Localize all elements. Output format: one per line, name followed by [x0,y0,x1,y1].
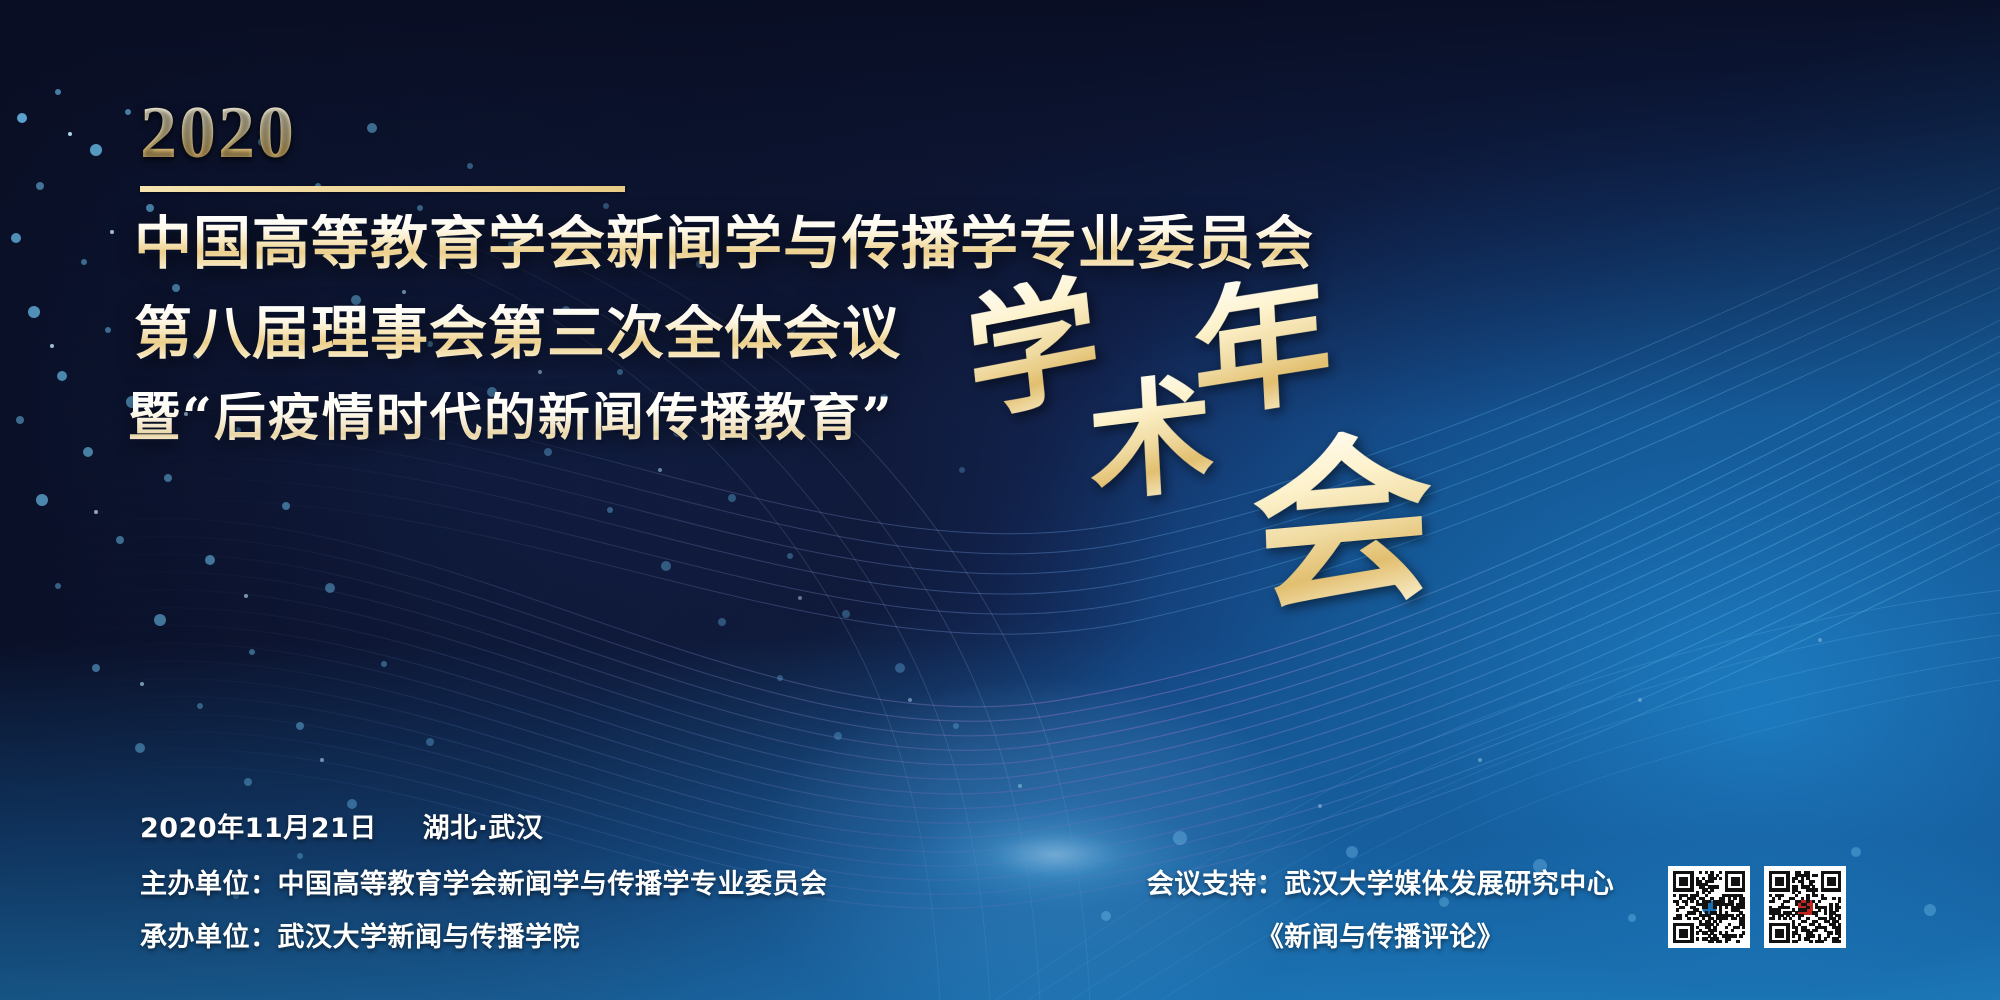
journal-line: 《新闻与传播评论》 [1118,915,1643,954]
title-line-2: 第八届理事会第三次全体会议 [134,304,901,362]
support-line: 会议支持：武汉大学媒体发展研究中心 [1118,862,1643,901]
conference-banner: 2020 中国高等教育学会新闻学与传播学专业委员会 第八届理事会第三次全体会议 … [0,0,2000,1000]
qr-code-journal[interactable] [1764,866,1846,948]
calligraphy-char-nian: 年 [1189,267,1335,429]
gold-divider-rule [140,186,625,192]
qr-code-wechat[interactable] [1668,866,1750,948]
year-2020: 2020 [140,96,296,170]
event-date: 2020年11月21日 [140,813,377,844]
date-location-line: 2020年11月21日 湖北·武汉 [140,806,543,845]
qr-code-group [1668,866,1846,948]
calligraphy-char-hui: 会 [1249,424,1437,622]
title-line-1: 中国高等教育学会新闻学与传播学专业委员会 [134,214,1314,272]
title-line-3-subtitle: 暨“后疫情时代的新闻传播教育” [128,392,894,444]
calligraphy-xueshu-nianhui: 学 术 年 会 [960,272,1430,612]
support-column: 会议支持：武汉大学媒体发展研究中心 《新闻与传播评论》 [1118,862,1643,968]
organizer-line: 主办单位：中国高等教育学会新闻学与传播学专业委员会 [140,862,828,901]
organizer-column: 主办单位：中国高等教育学会新闻学与传播学专业委员会 承办单位：武汉大学新闻与传播… [140,862,828,968]
event-location: 湖北·武汉 [423,813,544,844]
host-line: 承办单位：武汉大学新闻与传播学院 [140,915,828,954]
calligraphy-char-xue: 学 [960,269,1106,428]
banner-content: 2020 中国高等教育学会新闻学与传播学专业委员会 第八届理事会第三次全体会议 … [0,0,2000,1000]
